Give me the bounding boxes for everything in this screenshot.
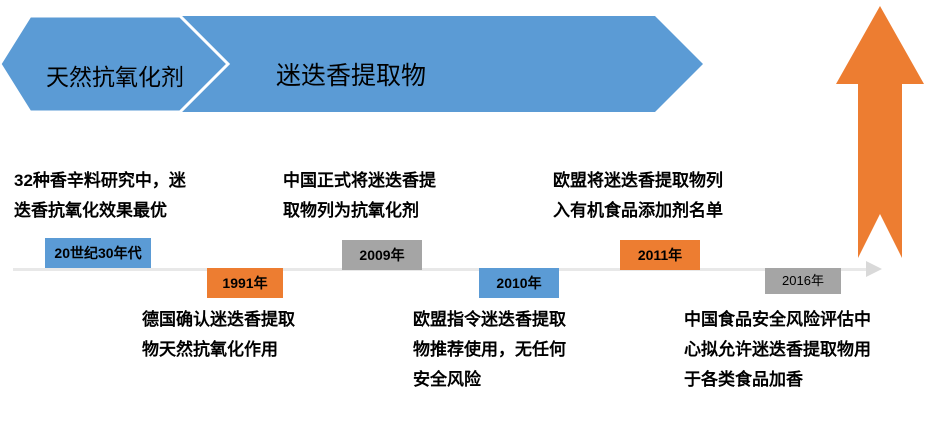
milestone-description-line: 安全风险 [413, 365, 653, 395]
timeline-infographic: 天然抗氧化剂 迷迭香提取物 呈上升趋势 20世纪30年代 1991年 2009年… [0, 0, 928, 441]
timeline-arrowhead-icon [866, 261, 882, 277]
year-chip-2016[interactable]: 2016年 [765, 268, 841, 294]
year-chip-2011[interactable]: 2011年 [620, 240, 700, 270]
milestone-description-line: 德国确认迷迭香提取 [142, 305, 392, 335]
up-arrow-shape [836, 6, 924, 258]
milestone-description-1930s: 32种香辛料研究中，迷 迭香抗氧化效果最优 [14, 166, 254, 226]
milestone-description-line: 迭香抗氧化效果最优 [14, 196, 254, 226]
milestone-description-line: 中国正式将迷迭香提 [283, 166, 513, 196]
banner-segment-1-label: 天然抗氧化剂 [46, 58, 184, 92]
milestone-description-line: 欧盟指令迷迭香提取 [413, 305, 653, 335]
banner-segment-2-label: 迷迭香提取物 [276, 56, 426, 92]
year-chip-2010[interactable]: 2010年 [479, 268, 559, 298]
milestone-description-2016: 中国食品安全风险评估中 心拟允许迷迭香提取物用 于各类食品加香 [684, 305, 928, 395]
up-arrow-icon [832, 2, 928, 262]
timeline-axis-line [13, 268, 868, 271]
milestone-description-line: 于各类食品加香 [684, 365, 928, 395]
milestone-description-2010: 欧盟指令迷迭香提取 物推荐使用，无任何 安全风险 [413, 305, 653, 395]
milestone-description-line: 取物列为抗氧化剂 [283, 196, 513, 226]
milestone-description-line: 心拟允许迷迭香提取物用 [684, 335, 928, 365]
trend-arrow: 呈上升趋势 [832, 2, 928, 262]
year-chip-1930s[interactable]: 20世纪30年代 [45, 238, 151, 268]
milestone-description-line: 物天然抗氧化作用 [142, 335, 392, 365]
year-chip-2009[interactable]: 2009年 [342, 240, 422, 270]
year-chip-1991[interactable]: 1991年 [207, 268, 283, 298]
milestone-description-2011: 欧盟将迷迭香提取物列 入有机食品添加剂名单 [553, 166, 803, 226]
milestone-description-line: 入有机食品添加剂名单 [553, 196, 803, 226]
milestone-description-1991: 德国确认迷迭香提取 物天然抗氧化作用 [142, 305, 392, 365]
milestone-description-2009: 中国正式将迷迭香提 取物列为抗氧化剂 [283, 166, 513, 226]
milestone-description-line: 中国食品安全风险评估中 [684, 305, 928, 335]
milestone-description-line: 欧盟将迷迭香提取物列 [553, 166, 803, 196]
header-banner: 天然抗氧化剂 迷迭香提取物 [0, 8, 710, 120]
milestone-description-line: 32种香辛料研究中，迷 [14, 166, 254, 196]
milestone-description-line: 物推荐使用，无任何 [413, 335, 653, 365]
